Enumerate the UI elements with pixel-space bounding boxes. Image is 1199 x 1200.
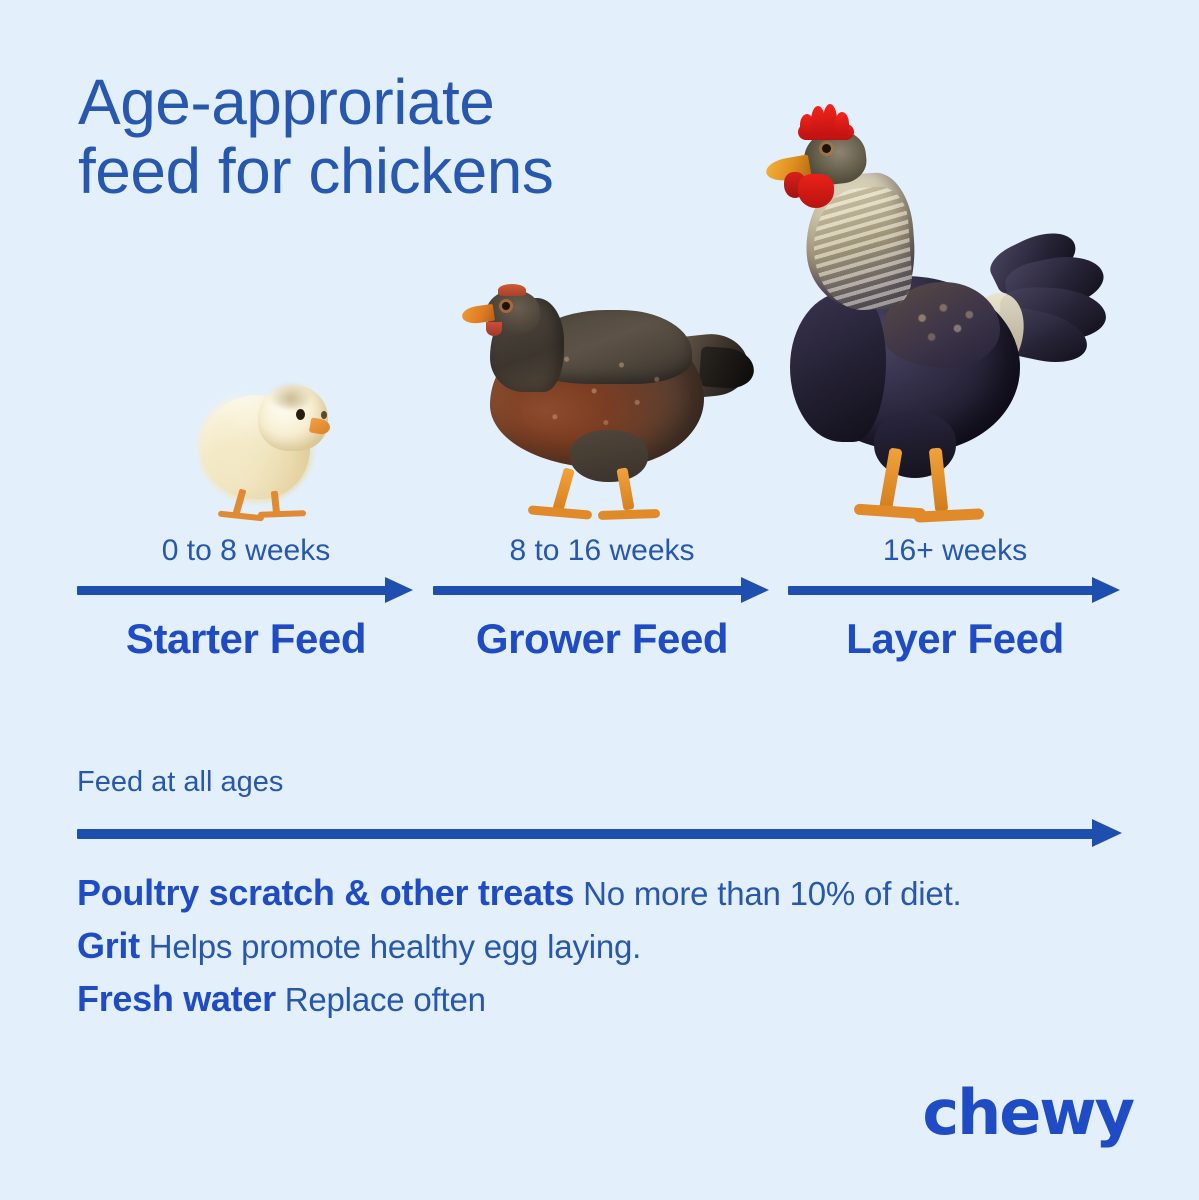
stage-arrow: [433, 577, 771, 603]
feed-timeline: 0 to 8 weeks Starter Feed 8 to 16 weeks …: [0, 536, 1199, 686]
arrow-head-icon: [1092, 819, 1122, 847]
arrow-head-icon: [741, 577, 769, 603]
stage-arrow: [77, 577, 415, 603]
hen-wattle: [798, 174, 834, 208]
hen-foot-right: [914, 508, 984, 523]
pullet-thigh: [570, 430, 648, 482]
stage-age-label: 0 to 8 weeks: [77, 536, 415, 566]
hen-eye: [822, 144, 831, 153]
timeline-stage-starter: 0 to 8 weeks Starter Feed: [77, 536, 415, 660]
pullet-foot-right: [598, 509, 660, 520]
bullet-description: No more than 10% of diet.: [574, 875, 961, 912]
stage-feed-label: Starter Feed: [77, 618, 415, 660]
arrow-line: [77, 586, 387, 595]
pullet-chicken-image: [462, 282, 762, 535]
all-ages-section: Feed at all ages: [77, 768, 1122, 847]
bullet-description: Helps promote healthy egg laying.: [140, 928, 641, 965]
arrow-line: [788, 586, 1094, 595]
pullet-eye: [502, 302, 510, 310]
chick-foot-left: [218, 511, 264, 522]
chick-head-cap: [270, 383, 312, 409]
hen-breast: [790, 292, 886, 442]
list-item: Fresh water Replace often: [77, 978, 1157, 1019]
pullet-leg-left: [552, 467, 575, 512]
stage-feed-label: Layer Feed: [788, 618, 1122, 660]
baby-chick-image: [196, 385, 356, 535]
pullet-wattle: [486, 322, 502, 336]
chewy-logo: chewy: [922, 1082, 1133, 1144]
all-ages-arrow: [77, 819, 1122, 847]
hen-comb: [800, 102, 856, 136]
list-item: Poultry scratch & other treats No more t…: [77, 872, 1157, 913]
timeline-stage-layer: 16+ weeks Layer Feed: [788, 536, 1122, 660]
bullet-term: Grit: [77, 925, 140, 966]
all-ages-bullet-list: Poultry scratch & other treats No more t…: [77, 872, 1157, 1031]
chick-foot-right: [258, 510, 306, 518]
chicken-illustration-stage: [0, 0, 1199, 545]
stage-feed-label: Grower Feed: [433, 618, 771, 660]
chick-eye-far: [321, 411, 327, 419]
pullet-tail-tip: [699, 346, 756, 390]
all-ages-label: Feed at all ages: [77, 768, 1122, 797]
arrow-line: [77, 829, 1094, 839]
list-item: Grit Helps promote healthy egg laying.: [77, 925, 1157, 966]
arrow-head-icon: [1092, 577, 1120, 603]
stage-arrow: [788, 577, 1122, 603]
adult-hen-image: [748, 96, 1128, 536]
bullet-description: Replace often: [276, 981, 486, 1018]
timeline-stage-grower: 8 to 16 weeks Grower Feed: [433, 536, 771, 660]
arrow-line: [433, 586, 743, 595]
stage-age-label: 16+ weeks: [788, 536, 1122, 566]
pullet-comb: [498, 284, 526, 296]
pullet-foot-left: [528, 505, 593, 520]
chick-eye: [296, 409, 305, 420]
bullet-term: Fresh water: [77, 978, 276, 1019]
stage-age-label: 8 to 16 weeks: [433, 536, 771, 566]
bullet-term: Poultry scratch & other treats: [77, 872, 574, 913]
infographic-canvas: Age-approriate feed for chickens: [0, 0, 1199, 1200]
arrow-head-icon: [385, 577, 413, 603]
